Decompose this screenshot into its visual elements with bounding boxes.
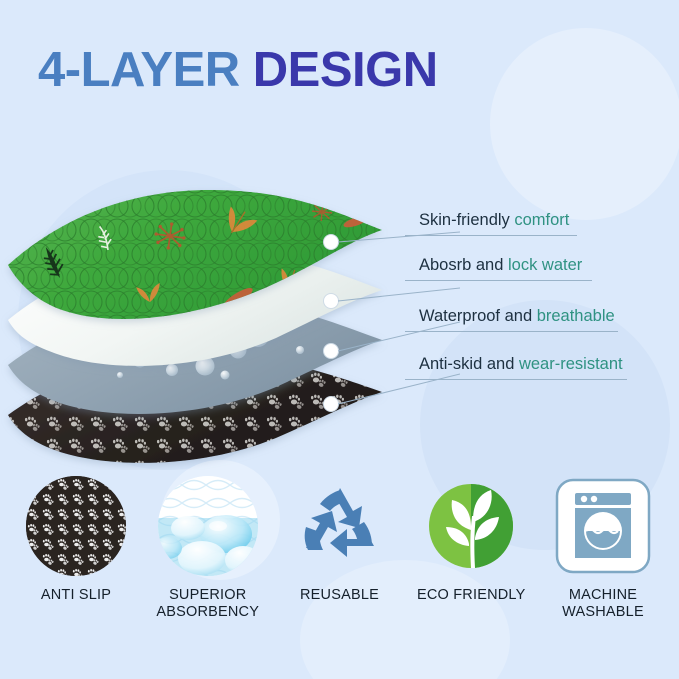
callout-lead-text: Skin-friendly <box>419 211 514 229</box>
callout-highlight-text: breathable <box>537 307 615 325</box>
title-part-two: DESIGN <box>253 43 438 97</box>
feature-label: SUPERIOR ABSORBENCY <box>156 587 259 621</box>
washing-machine-icon <box>553 476 653 576</box>
background-circle-decoration <box>490 28 679 220</box>
feature-machine-washable: MACHINE WASHABLE <box>541 476 665 646</box>
feature-label: ANTI SLIP <box>41 587 111 604</box>
callout-rule <box>405 280 592 281</box>
callout-absorb: Abosrb and lock water <box>419 256 582 275</box>
callout-anti-skid: Anti-skid and wear-resistant <box>419 355 623 374</box>
plant-leaf-icon <box>421 476 521 576</box>
layer-stack-illustration <box>0 170 460 470</box>
callout-lead-text: Abosrb and <box>419 256 508 274</box>
callout-highlight-text: comfort <box>514 211 569 229</box>
callout-highlight-text: lock water <box>508 256 582 274</box>
feature-reusable: REUSABLE <box>278 476 402 646</box>
feature-label: REUSABLE <box>300 587 379 604</box>
feature-label: ECO FRIENDLY <box>417 587 525 604</box>
callout-rule <box>405 235 577 236</box>
callout-rule <box>405 379 627 380</box>
feature-superior-absorbency: SUPERIOR ABSORBENCY <box>146 476 270 646</box>
callout-rule <box>405 331 618 332</box>
callout-highlight-text: wear-resistant <box>519 355 623 373</box>
callout-lead-text: Waterproof and <box>419 307 537 325</box>
page-title: 4-LAYER DESIGN <box>38 46 438 95</box>
feature-anti-slip: ANTI SLIP <box>14 476 138 646</box>
callout-lead-text: Anti-skid and <box>419 355 519 373</box>
callout-skin-friendly: Skin-friendly comfort <box>419 211 569 230</box>
paw-print-swatch-icon <box>26 476 126 576</box>
product-infographic: 4-LAYER DESIGN <box>0 0 679 679</box>
feature-label: MACHINE WASHABLE <box>562 587 644 621</box>
water-droplet-swatch-icon <box>158 476 258 576</box>
title-part-one: 4-LAYER <box>38 43 253 97</box>
feature-eco-friendly: ECO FRIENDLY <box>409 476 533 646</box>
recycle-icon <box>290 476 390 576</box>
callout-waterproof: Waterproof and breathable <box>419 307 615 326</box>
feature-row: ANTI SLIP <box>0 476 679 646</box>
